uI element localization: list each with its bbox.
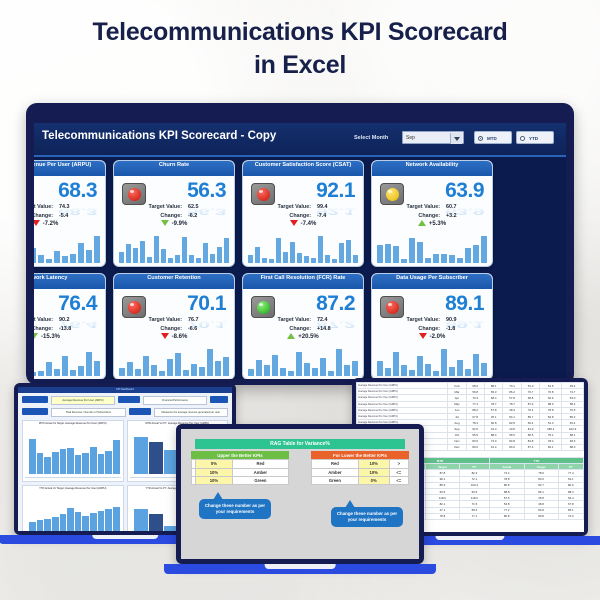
kpi-card[interactable]: Data Usage Per Subscriber89.189.1Target …	[371, 273, 493, 379]
spark-bar	[86, 352, 92, 376]
chart-bars	[29, 496, 120, 531]
status-light-red-icon	[122, 183, 146, 205]
chevron-down-icon	[450, 133, 462, 144]
rag-upper-header: Upper the Better KPIs	[191, 451, 289, 459]
mini-window-titlebar: KPI Dashboard	[18, 387, 232, 393]
trend-arrow-icon	[161, 220, 169, 226]
kpi-change-row: Change:+14.8	[243, 326, 363, 332]
spark-bar	[280, 368, 286, 376]
target-label: Target Value:	[388, 204, 440, 210]
front-laptop-base	[164, 564, 436, 574]
kpi-card[interactable]: Customer Satisfaction Score (CSAT)92.192…	[242, 160, 364, 267]
change-label: Change:	[259, 326, 311, 332]
rag-row[interactable]: Green0%<=	[312, 476, 409, 484]
kpi-card-title: Churn Rate	[114, 161, 234, 176]
callout-left: Change these number as per your requirem…	[199, 499, 271, 519]
change-label: Change:	[130, 213, 182, 219]
month-dropdown-value: Sep	[406, 135, 415, 141]
value-cell: 88.0	[562, 444, 584, 450]
kpi-card-body: 68.368.3Target Value:74.3Change:-5.4-7.2…	[34, 176, 105, 232]
main-laptop-device: Telecommunications KPI Scorecard - Copy …	[26, 103, 574, 385]
rag-threshold-cell[interactable]: 10%	[358, 460, 389, 468]
spark-bar	[199, 367, 205, 376]
delta-value: -7.2%	[43, 221, 59, 227]
trend-arrow-icon	[418, 220, 426, 226]
spark-bar	[283, 252, 288, 263]
mini-window-title: KPI Dashboard	[116, 388, 134, 391]
target-label: Target Value:	[259, 204, 311, 210]
kpi-card-title: Network Availability	[372, 161, 492, 176]
spark-bar	[262, 258, 267, 263]
change-label: Change:	[259, 213, 311, 219]
spark-bar	[62, 356, 68, 376]
status-light-yellow-icon	[380, 183, 404, 205]
value-cell: 77.1	[459, 513, 489, 519]
trend-arrow-icon	[290, 220, 298, 226]
spark-bar	[288, 371, 294, 376]
change-value: +14.8	[317, 326, 347, 332]
rag-color-cell: Red	[312, 460, 359, 468]
kpi-card-body: 70.170.1Target Value:76.7Change:-6.6-8.6…	[114, 289, 234, 345]
kpi-card-title: Network Latency	[34, 274, 105, 289]
spark-bar	[328, 371, 334, 376]
mtd-label: MTD	[487, 136, 497, 141]
status-light-red-icon	[380, 296, 404, 318]
spark-bar	[70, 254, 76, 263]
kpi-change-row: Change:+3.2	[372, 213, 492, 219]
spark-bar	[140, 241, 145, 263]
spark-bar	[417, 242, 423, 263]
spark-bar	[161, 249, 166, 263]
spark-bar	[320, 358, 326, 376]
spark-bar	[401, 365, 407, 376]
target-label: Target Value:	[130, 204, 182, 210]
target-value: 62.5	[188, 204, 218, 210]
kpi-name-field[interactable]: Average Revenue Per User (ARPU)	[51, 396, 115, 405]
ytd-radio[interactable]: YTD	[516, 131, 554, 144]
mtd-actual-vs-target-chart: MTD Actual Vs Target: Average Revenue Pe…	[22, 420, 124, 482]
select-kpi-button[interactable]	[22, 396, 48, 403]
spark-bar	[78, 366, 84, 376]
value-cell: 80.8	[489, 513, 524, 519]
trend-arrow-icon	[419, 333, 427, 339]
delta-value: -8.6%	[172, 334, 188, 340]
page-title: Telecommunications KPI Scorecard in Exce…	[0, 16, 600, 82]
rag-table-title: RAG Table for Variance%	[195, 439, 405, 449]
kpi-card-body: 56.356.3Target Value:62.5Change:-6.2-9.9…	[114, 176, 234, 232]
kpi-card[interactable]: First Call Resolution (FCR) Rate87.287.2…	[242, 273, 364, 379]
value-cell: 84.6	[503, 444, 521, 450]
kpi-change-row: Change:-6.2	[114, 213, 234, 219]
target-value: 72.4	[317, 317, 347, 323]
target-label: Target Value:	[34, 317, 53, 323]
spark-bar	[318, 236, 323, 263]
rag-row[interactable]: 0%Red	[192, 460, 289, 468]
spark-bar	[269, 259, 274, 263]
dashboard-header: Telecommunications KPI Scorecard - Copy …	[34, 123, 566, 157]
spark-bar	[353, 255, 358, 263]
rag-upper-table[interactable]: 0%Red10%Amber10%Green	[191, 459, 289, 485]
spark-bar	[409, 238, 415, 263]
kpi-card[interactable]: Network Availability63.963.9Target Value…	[371, 160, 493, 267]
kpi-card-title: Data Usage Per Subscriber	[372, 274, 492, 289]
spark-bar	[248, 255, 253, 263]
kpi-card-title: Average Revenue Per User (ARPU)	[34, 161, 105, 176]
kpi-card-title: Customer Retention	[114, 274, 234, 289]
chart-title: YTD Actual Vs Target: Average Revenue Pe…	[23, 487, 123, 490]
kpi-card[interactable]: Churn Rate56.356.3Target Value:62.5Chang…	[113, 160, 235, 267]
definition-button[interactable]	[129, 408, 151, 415]
spark-bar	[86, 250, 92, 263]
spark-bar	[223, 357, 229, 376]
spark-bar	[54, 251, 60, 263]
spark-bar	[312, 368, 318, 376]
rag-color-cell: Red	[232, 460, 288, 468]
target-value: 90.9	[446, 317, 476, 323]
spark-bar	[377, 245, 383, 263]
mtd-radio[interactable]: MTD	[474, 131, 512, 144]
rag-operator-cell: <=	[389, 468, 408, 476]
spark-bar	[135, 369, 141, 376]
spark-bar	[481, 236, 487, 263]
spark-bar	[332, 259, 337, 263]
select-month-label: Select Month	[354, 135, 388, 141]
spark-bar	[352, 361, 358, 376]
spark-bar	[94, 361, 100, 376]
dashboard-title: Telecommunications KPI Scorecard - Copy	[42, 130, 276, 142]
spark-bar	[344, 365, 350, 376]
front-laptop-device: RAG Table for Variance% Upper the Better…	[176, 424, 424, 574]
spark-bar	[346, 240, 351, 263]
trend-arrow-icon	[34, 220, 40, 226]
spark-bar	[154, 236, 159, 263]
kpi-sparkline-chart	[34, 236, 100, 263]
trend-arrow-icon	[34, 333, 38, 339]
spark-bar	[290, 242, 295, 263]
kpi-card-body: 63.963.9Target Value:60.7Change:+3.2+5.3…	[372, 176, 492, 232]
kpi-sparkline-chart	[248, 236, 358, 263]
month-dropdown[interactable]: Sep	[402, 131, 464, 144]
spark-bar	[457, 360, 463, 376]
kpi-group-field[interactable]: Financial Performance	[143, 396, 207, 405]
spark-bar	[210, 254, 215, 263]
delta-value: -7.4%	[301, 221, 317, 227]
spark-bar	[119, 368, 125, 376]
spark-bar	[441, 349, 447, 376]
spark-bar	[297, 253, 302, 263]
rag-operator-cell: <=	[389, 476, 408, 484]
kpi-change-row: Change:-13.8	[34, 326, 105, 332]
rag-threshold-cell[interactable]: 0%	[358, 476, 389, 484]
kpi-group-button[interactable]	[118, 396, 140, 403]
spark-bar	[119, 252, 124, 263]
spark-bar	[377, 361, 383, 376]
target-value: 99.4	[317, 204, 347, 210]
rag-color-cell: Amber	[312, 468, 359, 476]
change-value: -1.8	[446, 326, 476, 332]
spark-bar	[215, 361, 221, 376]
spark-bar	[189, 255, 194, 263]
trend-arrow-icon	[161, 333, 169, 339]
rag-threshold-cell[interactable]: 10%	[358, 468, 389, 476]
target-value: 76.7	[188, 317, 218, 323]
chart-axis	[25, 477, 121, 478]
spark-bar	[417, 356, 423, 376]
kpi-target-row: Target Value:74.3	[34, 204, 105, 210]
kpi-card-body: 89.189.1Target Value:90.9Change:-1.8-2.0…	[372, 289, 492, 345]
spark-bar	[70, 370, 76, 376]
spark-bar	[143, 356, 149, 376]
target-value: 90.2	[59, 317, 89, 323]
spark-bar	[38, 371, 44, 376]
glossary-field[interactable]: Total Revenue / Number of Subscribers	[51, 408, 126, 417]
spark-bar	[94, 236, 100, 263]
target-label: Target Value:	[259, 317, 311, 323]
spark-bar	[339, 243, 344, 263]
chart-title: MTD Actual Vs Target: Average Revenue Pe…	[23, 422, 123, 425]
trend-arrow-icon	[287, 333, 295, 339]
spark-bar	[175, 255, 180, 263]
kpi-delta: -7.4%	[243, 220, 363, 227]
spark-bar	[168, 258, 173, 263]
kpi-target-row: Target Value:72.4	[243, 317, 363, 323]
spark-bar	[196, 258, 201, 263]
spark-bar	[127, 362, 133, 376]
kpi-sparkline-chart	[377, 349, 487, 376]
spark-bar	[78, 243, 84, 263]
spark-bar	[276, 238, 281, 263]
change-label: Change:	[388, 326, 440, 332]
rag-threshold-cell[interactable]: 10%	[195, 476, 232, 484]
mini-control-row-1: Average Revenue Per User (ARPU) Financia…	[18, 393, 232, 405]
spark-bar	[217, 247, 222, 263]
change-value: -6.2	[188, 213, 218, 219]
spark-bar	[207, 349, 213, 376]
change-label: Change:	[34, 326, 53, 332]
spark-bar	[433, 371, 439, 376]
spark-bar	[481, 363, 487, 376]
spark-bar	[191, 364, 197, 376]
kpi-card[interactable]: Network Latency76.476.4Target Value:90.2…	[34, 273, 106, 379]
kpi-change-row: Change:-6.6	[114, 326, 234, 332]
spark-bar	[46, 259, 52, 263]
value-cell: 80.0	[466, 444, 484, 450]
spark-bar	[425, 258, 431, 263]
spark-bar	[62, 256, 68, 263]
kpi-card-title: Customer Satisfaction Score (CSAT)	[243, 161, 363, 176]
spark-bar	[126, 244, 131, 263]
reset-button[interactable]	[210, 396, 228, 403]
rag-row[interactable]: 10%Amber	[192, 468, 289, 476]
kpi-target-row: Target Value:62.5	[114, 204, 234, 210]
spark-bar	[255, 247, 260, 263]
spark-bar	[304, 363, 310, 377]
change-value: -7.4	[317, 213, 347, 219]
kpi-card[interactable]: Average Revenue Per User (ARPU)68.368.3T…	[34, 160, 106, 267]
kpi-card-body: 92.192.1Target Value:99.4Change:-7.4-7.4…	[243, 176, 363, 232]
kpi-delta: +5.3%	[372, 220, 492, 227]
target-label: Target Value:	[388, 317, 440, 323]
kpi-target-row: Target Value:76.7	[114, 317, 234, 323]
delta-value: +20.5%	[298, 334, 319, 340]
title-line-2: in Excel	[0, 49, 600, 82]
change-label: Change:	[388, 213, 440, 219]
kpi-card[interactable]: Customer Retention70.170.1Target Value:7…	[113, 273, 235, 379]
change-value: +3.2	[446, 213, 476, 219]
spark-bar	[175, 353, 181, 376]
spark-bar	[264, 365, 270, 376]
change-value: -5.4	[59, 213, 89, 219]
spark-bar	[304, 256, 309, 263]
kpi-sparkline-chart	[119, 349, 229, 376]
rag-threshold-cell[interactable]: 10%	[195, 468, 232, 476]
ytd-actual-vs-target-chart: YTD Actual Vs Target: Average Revenue Pe…	[22, 485, 124, 531]
value-cell: 87.3	[521, 444, 539, 450]
status-light-green-icon	[251, 296, 275, 318]
spark-bar	[311, 258, 316, 263]
rag-columns: Upper the Better KPIs 0%Red10%Amber10%Gr…	[189, 451, 411, 485]
status-light-red-icon	[122, 296, 146, 318]
change-label: Change:	[34, 213, 53, 219]
spark-bar	[147, 257, 152, 263]
spark-bar	[203, 243, 208, 263]
kpi-card-title: First Call Resolution (FCR) Rate	[243, 274, 363, 289]
chart-bars	[29, 431, 120, 474]
radio-dot-icon	[478, 136, 483, 141]
kpi-delta: -9.9%	[114, 220, 234, 227]
spark-bar	[224, 238, 229, 263]
kpi-card-grid: Average Revenue Per User (ARPU)68.368.3T…	[34, 157, 566, 379]
target-label: Target Value:	[130, 317, 182, 323]
value-cell: 82.1	[540, 444, 562, 450]
kpi-delta: -8.6%	[114, 333, 234, 340]
spark-bar	[34, 372, 36, 376]
value-cell: 61.4	[484, 444, 502, 450]
rag-row[interactable]: 10%Green	[192, 476, 289, 484]
spark-bar	[449, 367, 455, 376]
title-line-1: Telecommunications KPI Scorecard	[92, 18, 507, 46]
spark-bar	[54, 369, 60, 376]
kpi-delta: -2.0%	[372, 333, 492, 340]
kpi-target-row: Target Value:90.2	[34, 317, 105, 323]
spark-bar	[133, 248, 138, 263]
spark-bar	[182, 237, 187, 263]
spark-bar	[433, 254, 439, 263]
rag-table-wrapper: RAG Table for Variance% Upper the Better…	[181, 429, 419, 485]
spark-bar	[34, 248, 36, 263]
dashboard-screen: Telecommunications KPI Scorecard - Copy …	[34, 123, 566, 379]
kpi-change-row: Change:-5.4	[34, 213, 105, 219]
kpi-sparkline-chart	[34, 349, 100, 376]
kpi-delta: -7.2%	[34, 220, 105, 227]
spark-bar	[325, 255, 330, 263]
ytd-label: YTD	[529, 136, 538, 141]
kpi-target-row: Target Value:99.4	[243, 204, 363, 210]
kpi-sparkline-chart	[248, 349, 358, 376]
mini-control-row-2: Total Revenue / Number of Subscribers Me…	[18, 405, 232, 417]
rag-row[interactable]: Amber10%<=	[312, 468, 409, 476]
spark-bar	[46, 362, 52, 376]
spark-bar	[167, 359, 173, 376]
glossary-button[interactable]	[22, 408, 48, 415]
spark-bar	[393, 352, 399, 376]
kpi-card-body: 76.476.4Target Value:90.2Change:-13.8-15…	[34, 289, 105, 345]
status-light-red-icon	[251, 183, 275, 205]
callout-right: Change these number as per your requirem…	[331, 507, 403, 527]
kpi-delta: -15.3%	[34, 333, 105, 340]
kpi-target-row: Target Value:60.7	[372, 204, 492, 210]
kpi-sparkline-chart	[377, 236, 487, 263]
rag-screen: RAG Table for Variance% Upper the Better…	[181, 429, 419, 559]
value-cell: 72.0	[558, 513, 583, 519]
rag-lower-header: For Lower the Better KPIs	[311, 451, 409, 459]
change-value: -6.6	[188, 326, 218, 332]
delta-value: -15.3%	[41, 334, 60, 340]
rag-threshold-cell[interactable]: 0%	[195, 460, 232, 468]
month-cell: Dec	[448, 444, 466, 450]
delta-value: -9.9%	[172, 221, 188, 227]
rag-row[interactable]: Red10%>	[312, 460, 409, 468]
spark-bar	[473, 354, 479, 376]
value-cell: 80.8	[524, 513, 558, 519]
kpi-target-row: Target Value:90.9	[372, 317, 492, 323]
spark-bar	[248, 369, 254, 376]
spark-bar	[449, 255, 455, 263]
delta-value: +5.3%	[429, 221, 446, 227]
rag-color-cell: Green	[312, 476, 359, 484]
delta-value: -2.0%	[430, 334, 446, 340]
spark-bar	[401, 259, 407, 263]
spark-bar	[296, 352, 302, 376]
spark-bar	[272, 355, 278, 376]
spark-bar	[465, 369, 471, 376]
spark-bar	[441, 254, 447, 263]
target-value: 74.3	[59, 204, 89, 210]
spark-bar	[409, 370, 415, 376]
spark-bar	[385, 244, 391, 263]
rag-lower-table[interactable]: Red10%>Amber10%<=Green0%<=	[311, 459, 409, 485]
definition-field[interactable]: Measures the average revenue generated p…	[154, 408, 229, 417]
kpi-card-body: 87.287.2Target Value:72.4Change:+14.8+20…	[243, 289, 363, 345]
change-label: Change:	[130, 326, 182, 332]
target-value: 60.7	[446, 204, 476, 210]
spark-bar	[256, 360, 262, 376]
kpi-delta: +20.5%	[243, 333, 363, 340]
rag-upper-column: Upper the Better KPIs 0%Red10%Amber10%Gr…	[191, 451, 289, 485]
kpi-change-row: Change:-1.8	[372, 326, 492, 332]
spark-bar	[393, 246, 399, 263]
spark-bar	[457, 258, 463, 263]
spark-bar	[336, 349, 342, 376]
spark-bar	[385, 368, 391, 376]
target-label: Target Value:	[34, 204, 53, 210]
spark-bar	[183, 370, 189, 376]
spark-bar	[473, 245, 479, 263]
rag-color-cell: Green	[232, 476, 288, 484]
change-value: -13.8	[59, 326, 89, 332]
kpi-sparkline-chart	[119, 236, 229, 263]
spark-bar	[38, 255, 44, 263]
spark-bar	[425, 364, 431, 376]
spark-bar	[159, 371, 165, 376]
value-cell: 78.8	[425, 513, 459, 519]
spark-bar	[465, 248, 471, 263]
radio-dot-icon	[520, 136, 525, 141]
rag-lower-column: For Lower the Better KPIs Red10%>Amber10…	[311, 451, 409, 485]
spark-bar	[151, 365, 157, 376]
rag-color-cell: Amber	[232, 468, 288, 476]
rag-operator-cell: >	[389, 460, 408, 468]
